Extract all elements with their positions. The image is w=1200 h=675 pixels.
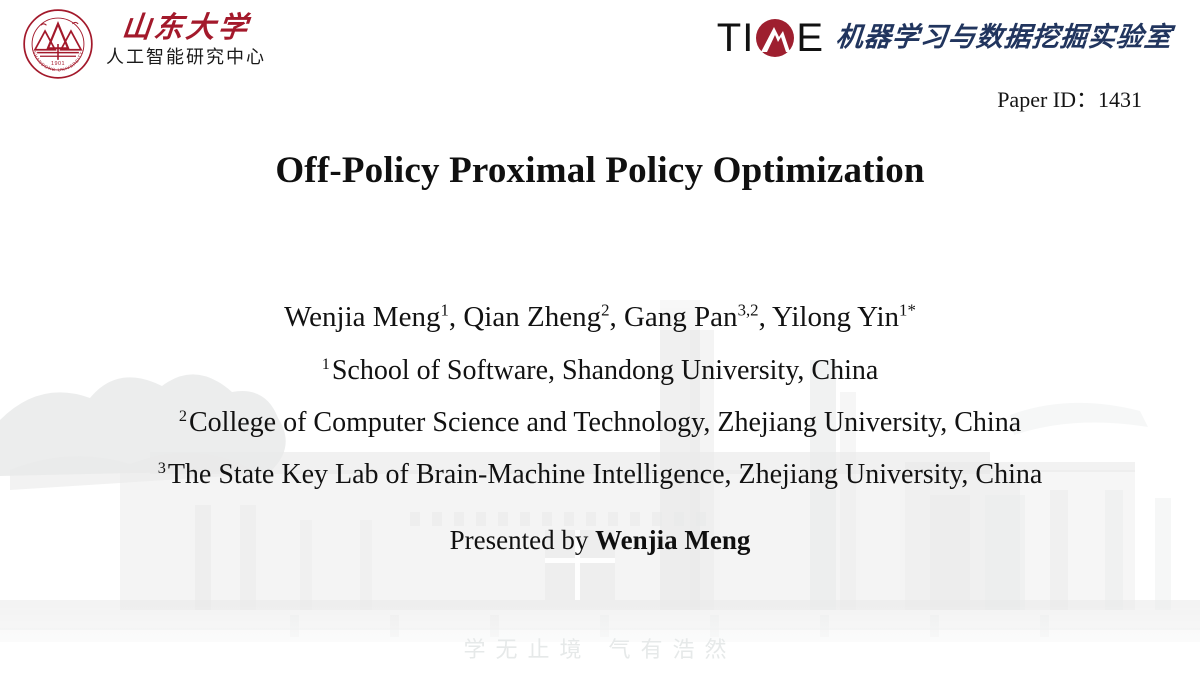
affiliation-marker: 2 [179, 407, 187, 425]
author-name: Gang Pan [624, 301, 738, 333]
sdu-logo-text: 山东大学 人工智能研究中心 [106, 10, 266, 70]
time-lab-logo: TI E 机器学习与数据挖掘实验室 [717, 16, 1172, 60]
author-separator: , [449, 301, 464, 333]
sdu-logo: 1901 SHANDONG UNIVERSITY 山东大学 人工智能研究中心 [22, 8, 266, 80]
author-name: Wenjia Meng [284, 301, 440, 333]
author-affiliation-marker: 3,2 [738, 300, 759, 319]
affiliation-text: The State Key Lab of Brain-Machine Intel… [168, 459, 1042, 490]
svg-text:1901: 1901 [51, 61, 65, 67]
author-separator: , [759, 301, 772, 333]
time-wordmark-e: E [796, 18, 824, 58]
affiliation-marker: 1 [322, 355, 330, 373]
author-list: Wenjia Meng1, Qian Zheng2, Gang Pan3,2, … [0, 298, 1200, 336]
time-wordmark: TI E [717, 16, 824, 60]
affiliation-line-2: 2College of Computer Science and Technol… [0, 405, 1200, 441]
slide-header: 1901 SHANDONG UNIVERSITY 山东大学 人工智能研究中心 T… [0, 0, 1200, 100]
author-entry: Gang Pan3,2 [624, 301, 759, 333]
author-name: Qian Zheng [463, 301, 601, 333]
time-mountain-mark-icon [755, 18, 795, 58]
presentation-slide: 1901 SHANDONG UNIVERSITY 山东大学 人工智能研究中心 T… [0, 0, 1200, 675]
affiliation-line-1: 1School of Software, Shandong University… [0, 353, 1200, 389]
author-affiliation-marker: 1* [899, 300, 916, 319]
author-entry: Yilong Yin1* [772, 301, 916, 333]
author-entry: Qian Zheng2 [463, 301, 609, 333]
author-entry: Wenjia Meng1 [284, 301, 449, 333]
author-affiliation-marker: 1 [440, 300, 448, 319]
shandong-university-seal-icon: 1901 SHANDONG UNIVERSITY [22, 8, 94, 80]
presented-by-prefix: Presented by [450, 525, 595, 555]
affiliation-text: College of Computer Science and Technolo… [189, 407, 1021, 438]
affiliation-text: School of Software, Shandong University,… [332, 355, 878, 386]
author-separator: , [609, 301, 624, 333]
affiliation-line-3: 3The State Key Lab of Brain-Machine Inte… [0, 457, 1200, 493]
affiliation-marker: 3 [158, 459, 166, 477]
time-lab-name-cn: 机器学习与数据挖掘实验室 [835, 21, 1174, 55]
sdu-university-name-cn: 山东大学 [120, 10, 252, 44]
time-wordmark-ti: TI [717, 18, 755, 58]
paper-id-label: Paper ID：1431 [997, 86, 1142, 114]
sdu-center-name-cn: 人工智能研究中心 [106, 46, 266, 70]
author-name: Yilong Yin [772, 301, 899, 333]
page-title: Off-Policy Proximal Policy Optimization [0, 148, 1200, 194]
presenter-name: Wenjia Meng [595, 525, 750, 555]
presenter-line: Presented by Wenjia Meng [0, 522, 1200, 558]
